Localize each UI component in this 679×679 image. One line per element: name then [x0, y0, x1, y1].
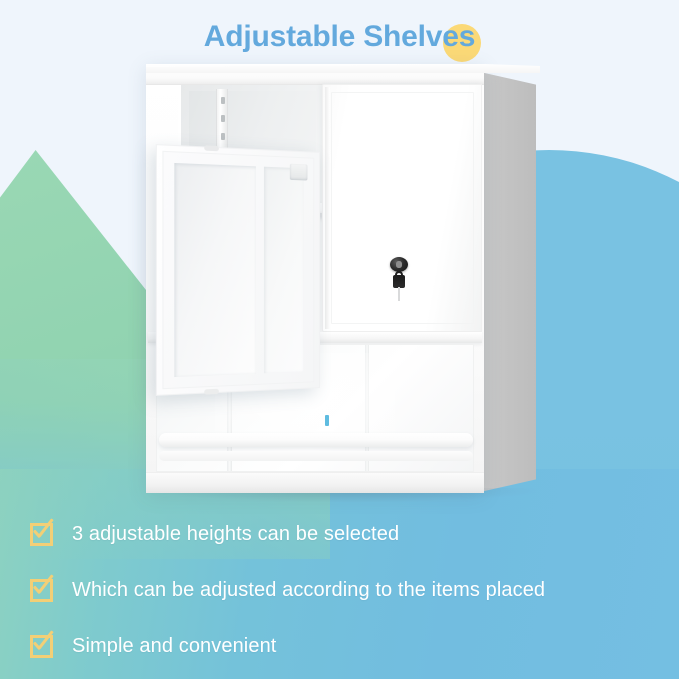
key-shaft-icon: [398, 287, 400, 301]
feature-list: 3 adjustable heights can be selected Whi…: [28, 506, 658, 674]
feature-text: 3 adjustable heights can be selected: [72, 523, 399, 546]
lower-shelf-second-rail: [159, 451, 473, 461]
cabinet-side-panel: [480, 72, 536, 492]
lower-shelf-blue-detail: [325, 415, 329, 426]
lock-cylinder-icon[interactable]: [390, 257, 408, 272]
feature-text: Simple and convenient: [72, 635, 276, 658]
open-door-inner-panel-left: [174, 163, 256, 377]
feature-text: Which can be adjusted according to the i…: [72, 579, 545, 602]
heading-area: Adjustable Shelves: [0, 8, 679, 66]
checkbox-check-icon: [28, 519, 58, 549]
page-title: Adjustable Shelves: [204, 20, 476, 54]
door-top-nub: [204, 145, 219, 151]
list-item: Simple and convenient: [28, 618, 658, 674]
product-feature-image: Adjustable Shelves: [0, 0, 679, 679]
checkbox-check-icon: [28, 575, 58, 605]
door-edge-highlight: [325, 87, 330, 329]
open-door-frame: [162, 151, 314, 389]
door-hinge-icon: [290, 164, 308, 181]
open-door-inner-panel-right: [264, 167, 304, 374]
list-item: 3 adjustable heights can be selected: [28, 506, 658, 562]
lower-shelf-front-rail: [159, 433, 473, 447]
cabinet-base-plinth: [146, 472, 484, 493]
cabinet-illustration: [146, 64, 536, 492]
checkbox-check-icon: [28, 631, 58, 661]
heading-inner: Adjustable Shelves: [204, 20, 476, 54]
cabinet-closed-door[interactable]: [322, 84, 482, 332]
cabinet-lock-assembly[interactable]: [389, 257, 415, 303]
cabinet-open-door[interactable]: [156, 144, 320, 396]
list-item: Which can be adjusted according to the i…: [28, 562, 658, 618]
door-bottom-nub: [204, 389, 219, 395]
